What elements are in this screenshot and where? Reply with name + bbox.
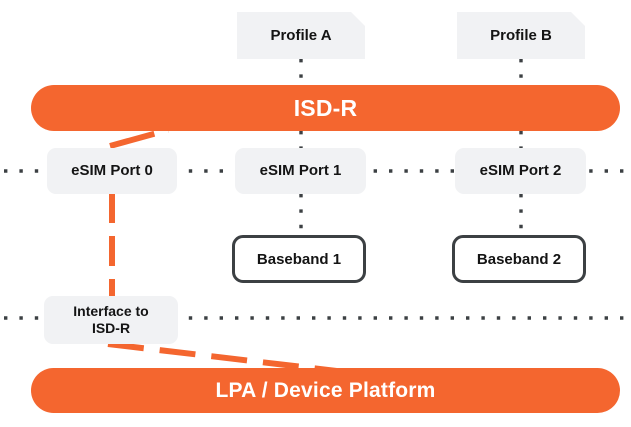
interface-to-isdr-line1: Interface to: [73, 303, 148, 319]
isdr-bar[interactable]: ISD-R: [31, 85, 620, 131]
profile-a-card[interactable]: Profile A: [237, 12, 365, 59]
esim-port-1-chip[interactable]: eSIM Port 1: [235, 148, 366, 194]
baseband-1-label: Baseband 1: [257, 251, 341, 268]
profile-a-label: Profile A: [270, 27, 331, 44]
profile-b-card[interactable]: Profile B: [457, 12, 585, 59]
lpa-device-platform-label: LPA / Device Platform: [215, 379, 435, 403]
esim-port-1-label: eSIM Port 1: [260, 162, 342, 181]
baseband-1-box[interactable]: Baseband 1: [232, 235, 366, 283]
interface-to-isdr-label: Interface to ISD-R: [73, 303, 148, 338]
lpa-device-platform-bar[interactable]: LPA / Device Platform: [31, 368, 620, 413]
interface-to-isdr-line2: ISD-R: [92, 320, 130, 336]
node-layer: Profile A Profile B ISD-R eSIM Port 0 eS…: [0, 0, 631, 427]
interface-to-isdr-chip[interactable]: Interface to ISD-R: [44, 296, 178, 344]
esim-port-2-chip[interactable]: eSIM Port 2: [455, 148, 586, 194]
baseband-2-box[interactable]: Baseband 2: [452, 235, 586, 283]
diagram-canvas: Profile A Profile B ISD-R eSIM Port 0 eS…: [0, 0, 631, 427]
esim-port-2-label: eSIM Port 2: [480, 162, 562, 181]
baseband-2-label: Baseband 2: [477, 251, 561, 268]
esim-port-0-label: eSIM Port 0: [71, 162, 153, 181]
esim-port-0-chip[interactable]: eSIM Port 0: [47, 148, 177, 194]
isdr-bar-label: ISD-R: [294, 95, 358, 122]
profile-b-label: Profile B: [490, 27, 552, 44]
